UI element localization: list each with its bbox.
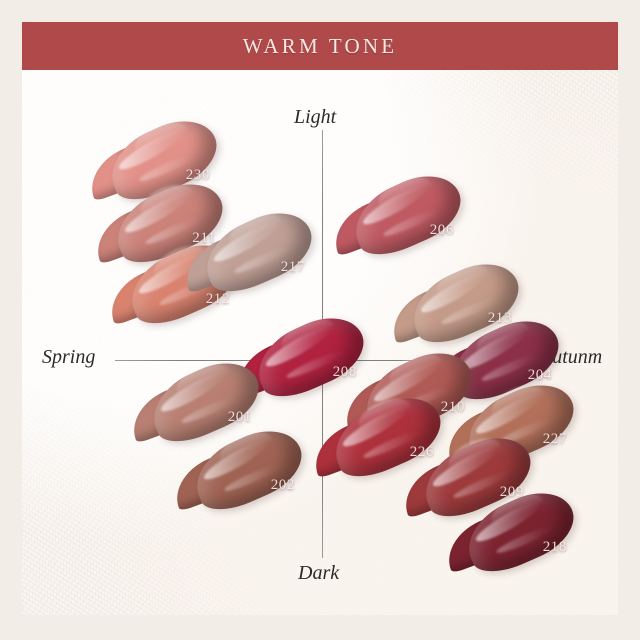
lipstick-swatch[interactable]: 208: [255, 325, 367, 391]
lipstick-swatch[interactable]: 206: [352, 183, 464, 249]
swatch-blob: [343, 163, 471, 265]
lipstick-swatch[interactable]: 217: [203, 220, 315, 286]
lipstick-swatch[interactable]: 218: [465, 500, 577, 566]
swatch-shape: [343, 163, 472, 269]
card-header: WARM TONE: [22, 22, 618, 70]
axis-label-light: Light: [294, 106, 336, 129]
swatch-blob: [246, 305, 374, 407]
lipstick-swatch[interactable]: 202: [193, 438, 305, 504]
shade-plot: Light Dark Spring Autunm 230211212217206…: [22, 70, 618, 615]
shade-chart-card: WARM TONE Light Dark Spring Autunm 23021…: [22, 22, 618, 615]
screenshot-root: WARM TONE Light Dark Spring Autunm 23021…: [0, 0, 640, 640]
lipstick-swatch[interactable]: 201: [150, 370, 262, 436]
axis-label-dark: Dark: [298, 562, 339, 585]
axis-label-spring: Spring: [42, 346, 95, 369]
page-title: WARM TONE: [243, 34, 398, 59]
